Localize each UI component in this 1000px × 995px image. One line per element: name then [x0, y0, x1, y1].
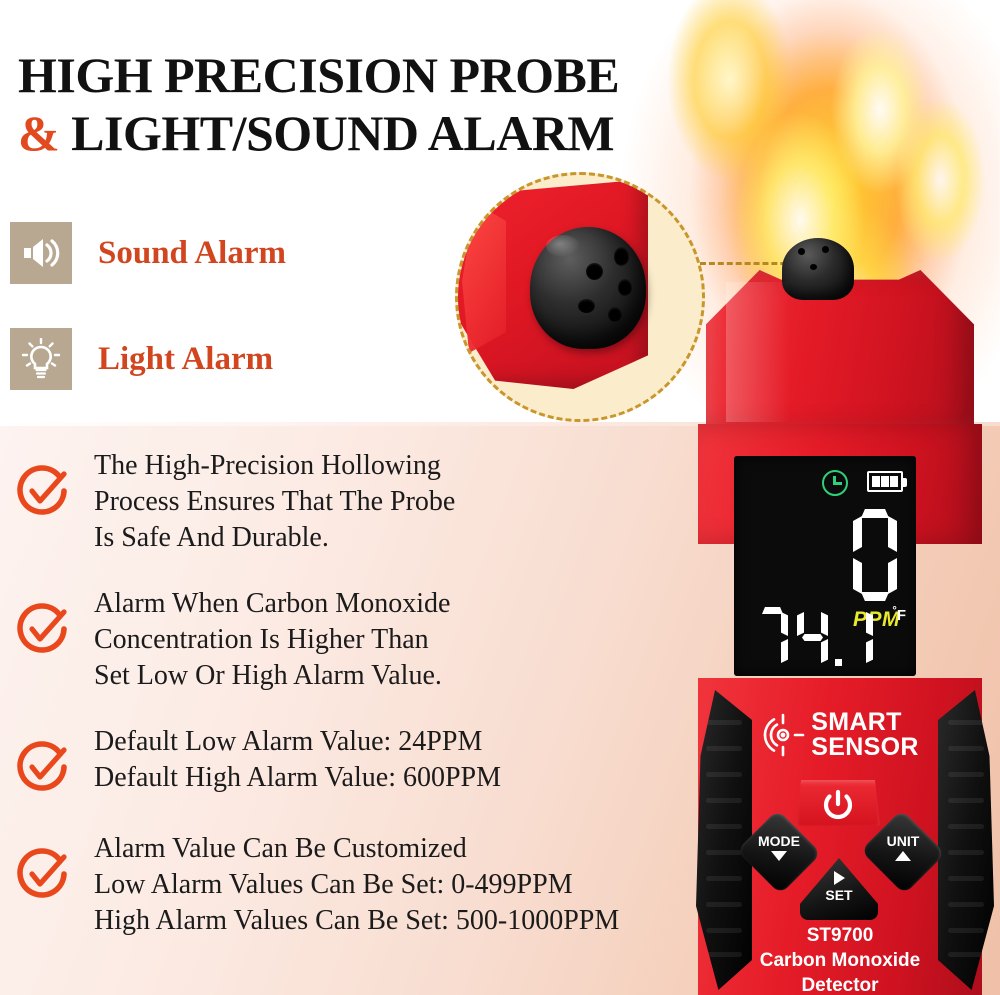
arrow-up-icon	[894, 850, 912, 862]
set-label-text: SET	[825, 887, 852, 903]
temperature-reading	[756, 606, 875, 668]
list-item-text: The High-Precision Hollowing Process Ens…	[94, 448, 455, 556]
speaker-icon	[10, 222, 72, 284]
clock-icon	[822, 470, 848, 496]
probe-hole	[586, 263, 603, 280]
battery-bar	[890, 476, 898, 487]
device-head-highlight	[726, 282, 790, 422]
bullet-line: High Alarm Values Can Be Set: 500-1000PP…	[94, 903, 619, 939]
list-item: Default Low Alarm Value: 24PPM Default H…	[0, 724, 700, 801]
device-probe-dome	[782, 238, 854, 300]
headline-line-2-text: LIGHT/SOUND ALARM	[71, 105, 614, 161]
seven-segment-digit	[756, 606, 789, 668]
fahrenheit-letter: F	[897, 607, 906, 624]
list-item: The High-Precision Hollowing Process Ens…	[0, 448, 700, 556]
check-circle-icon	[14, 462, 76, 525]
brand-logo: SMART SENSOR	[690, 710, 990, 760]
probe-highlight	[546, 235, 580, 257]
headline-line-1: HIGH PRECISION PROBE	[18, 46, 738, 104]
check-circle-icon	[14, 600, 76, 663]
power-icon	[821, 788, 855, 822]
probe-hole	[608, 307, 622, 322]
list-item-text: Alarm Value Can Be Customized Low Alarm …	[94, 831, 619, 939]
bullet-line: Low Alarm Values Can Be Set: 0-499PPM	[94, 867, 619, 903]
probe-closeup-magnifier	[455, 172, 705, 422]
bullet-line: Is Safe And Durable.	[94, 520, 455, 556]
device-product-line-2: Detector	[690, 973, 990, 995]
probe-hole	[822, 246, 829, 253]
check-circle-icon	[14, 845, 76, 908]
light-alarm-label: Light Alarm	[98, 341, 273, 378]
check-circle-icon	[14, 738, 76, 801]
decimal-point	[835, 659, 842, 666]
seven-segment-digit	[852, 508, 898, 602]
lightbulb-icon	[10, 328, 72, 390]
temperature-unit-label: °F	[892, 606, 906, 623]
brand-line-1: SMART	[811, 710, 918, 735]
device-product-line-1: Carbon Monoxide	[690, 948, 990, 973]
mode-label-text: MODE	[758, 833, 800, 849]
bullet-line: Alarm When Carbon Monoxide	[94, 586, 450, 622]
co-detector-device: PPM	[690, 238, 1000, 995]
bullet-line: Alarm Value Can Be Customized	[94, 831, 619, 867]
probe-hole	[810, 264, 817, 270]
bullet-line: Process Ensures That The Probe	[94, 484, 455, 520]
seven-segment-digit	[849, 606, 875, 668]
probe-hole	[798, 248, 805, 255]
sound-alarm-label: Sound Alarm	[98, 235, 286, 272]
probe-hole	[618, 279, 632, 296]
feature-bullet-list: The High-Precision Hollowing Process Ens…	[0, 448, 700, 969]
bullet-line: The High-Precision Hollowing	[94, 448, 455, 484]
feature-light-alarm: Light Alarm	[10, 328, 273, 390]
unit-button-label: UNIT	[868, 833, 938, 862]
target-crosshair-icon	[761, 713, 805, 757]
headline-line-2: & LIGHT/SOUND ALARM	[18, 104, 738, 162]
arrow-right-icon	[831, 870, 847, 886]
headline-ampersand: &	[18, 105, 59, 161]
bullet-line: Set Low Or High Alarm Value.	[94, 658, 450, 694]
feature-sound-alarm: Sound Alarm	[10, 222, 286, 284]
device-model-block: ST9700 Carbon Monoxide Detector	[690, 923, 990, 995]
lcd-screen: PPM	[734, 456, 916, 676]
bullet-line: Default High Alarm Value: 600PPM	[94, 760, 501, 796]
unit-label-text: UNIT	[887, 833, 920, 849]
list-item: Alarm Value Can Be Customized Low Alarm …	[0, 831, 700, 939]
battery-bar	[872, 476, 880, 487]
list-item-text: Alarm When Carbon Monoxide Concentration…	[94, 586, 450, 694]
brand-name: SMART SENSOR	[811, 710, 918, 760]
bullet-line: Default Low Alarm Value: 24PPM	[94, 724, 501, 760]
brand-line-2: SENSOR	[811, 735, 918, 760]
battery-full-icon	[867, 471, 903, 492]
page-title: HIGH PRECISION PROBE & LIGHT/SOUND ALARM	[18, 46, 738, 162]
mode-button-label: MODE	[744, 833, 814, 862]
list-item: Alarm When Carbon Monoxide Concentration…	[0, 586, 700, 694]
arrow-down-icon	[770, 850, 788, 862]
probe-hole	[578, 299, 595, 313]
device-model-number: ST9700	[690, 923, 990, 948]
co-reading-value	[852, 508, 898, 607]
battery-bar	[881, 476, 889, 487]
list-item-text: Default Low Alarm Value: 24PPM Default H…	[94, 724, 501, 796]
bullet-line: Concentration Is Higher Than	[94, 622, 450, 658]
seven-segment-digit	[796, 606, 829, 668]
set-button-label: SET	[804, 870, 874, 903]
probe-hole	[614, 247, 629, 266]
infographic-canvas: HIGH PRECISION PROBE & LIGHT/SOUND ALARM…	[0, 0, 1000, 995]
